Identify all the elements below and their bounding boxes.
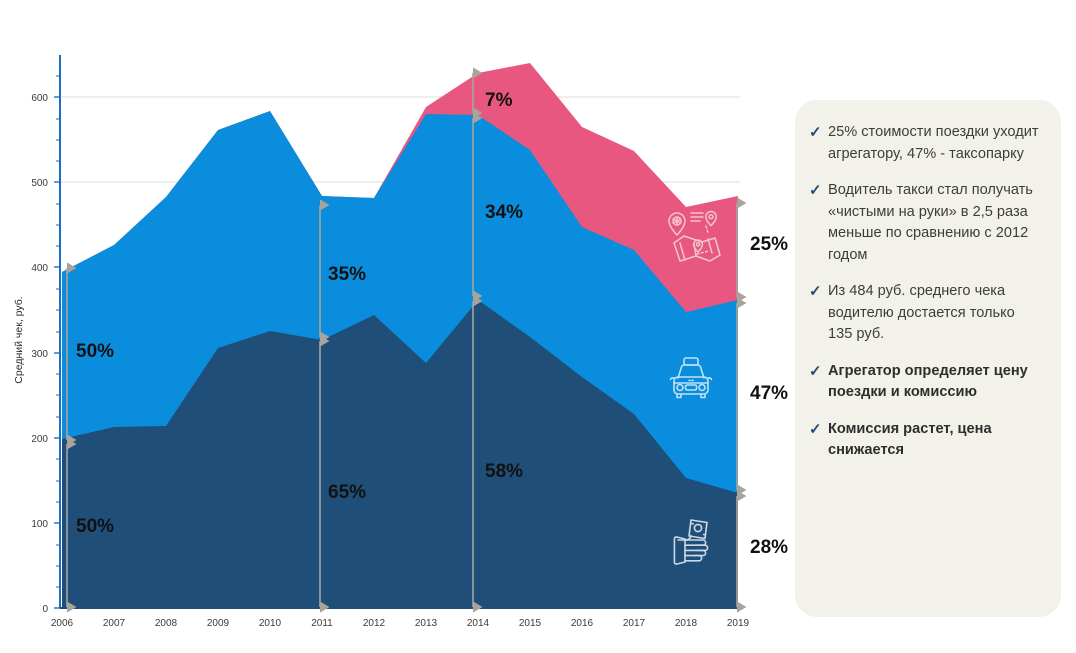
x-tick-2006: 2006 [51,618,74,629]
stacked-area-chart: 0 100 200 300 400 500 600 Средний чек, р… [0,0,790,653]
x-tick-2011: 2011 [311,618,333,629]
y-tick-300: 300 [31,349,48,360]
y-tick-200: 200 [31,434,48,445]
x-tick-2010: 2010 [259,618,282,629]
list-item: ✓ Водитель такси стал получать «чистыми … [809,180,1043,266]
list-item-text: Комиссия растет, цена снижается [828,419,1043,462]
list-item: ✓ 25% стоимости поездки уходит агрегатор… [809,122,1043,165]
x-tick-2013: 2013 [415,618,438,629]
y-tick-labels: 0 100 200 300 400 500 600 [31,93,48,615]
pct-2006-taxipark: 50% [76,341,114,362]
check-icon: ✓ [809,122,828,143]
pct-2014-aggregator: 7% [485,90,513,111]
check-icon: ✓ [809,419,828,440]
x-tick-2017: 2017 [623,618,646,629]
x-tick-2016: 2016 [571,618,594,629]
x-tick-2012: 2012 [363,618,386,629]
chart-canvas: 0 100 200 300 400 500 600 Средний чек, р… [0,0,790,653]
pct-2014-driver: 58% [485,461,523,482]
x-tick-2019: 2019 [727,618,750,629]
check-icon: ✓ [809,281,828,302]
pct-2011-taxipark: 35% [328,264,366,285]
x-tick-2007: 2007 [103,618,126,629]
edge-percent-labels: 25% 47% 28% [750,234,788,558]
y-tick-600: 600 [31,93,48,104]
pct-right-taxipark: 47% [750,383,788,404]
pct-2006-driver: 50% [76,516,114,537]
x-tick-2018: 2018 [675,618,698,629]
pct-2011-driver: 65% [328,482,366,503]
y-axis-title: Средний чек, руб. [13,296,25,383]
pct-right-driver: 28% [750,537,788,558]
list-item: ✓ Комиссия растет, цена снижается [809,419,1043,462]
list-item-text: Водитель такси стал получать «чистыми на… [828,180,1043,266]
x-tick-labels: 2006 2007 2008 2009 2010 2011 2012 2013 … [51,618,750,629]
check-icon: ✓ [809,180,828,201]
x-tick-2014: 2014 [467,618,490,629]
y-axis [54,55,60,608]
pct-right-aggregator: 25% [750,234,788,255]
list-item-text: 25% стоимости поездки уходит агрегатору,… [828,122,1043,165]
insights-panel: ✓ 25% стоимости поездки уходит агрегатор… [795,100,1061,617]
list-item-text: Агрегатор определяет цену поездки и коми… [828,361,1043,404]
x-tick-2008: 2008 [155,618,178,629]
check-icon: ✓ [809,361,828,382]
list-item-text: Из 484 руб. среднего чека водителю доста… [828,281,1043,346]
x-tick-2009: 2009 [207,618,230,629]
y-tick-0: 0 [42,604,48,615]
list-item: ✓ Из 484 руб. среднего чека водителю дос… [809,281,1043,346]
y-tick-100: 100 [31,519,48,530]
pct-2014-taxipark: 34% [485,202,523,223]
y-tick-500: 500 [31,178,48,189]
y-tick-400: 400 [31,263,48,274]
list-item: ✓ Агрегатор определяет цену поездки и ко… [809,361,1043,404]
x-tick-2015: 2015 [519,618,542,629]
